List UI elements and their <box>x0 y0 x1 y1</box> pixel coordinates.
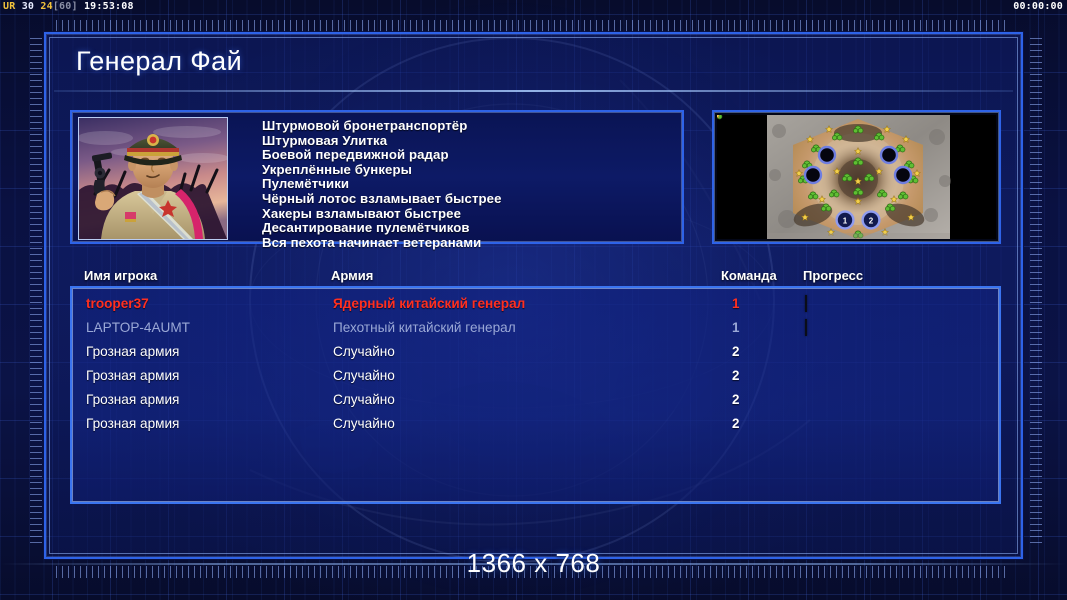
ability-item: Хакеры взламывают быстрее <box>262 207 502 222</box>
ability-item: Боевой передвижной радар <box>262 148 502 163</box>
table-row[interactable]: Грозная армия Случайно 2 <box>72 340 999 364</box>
current-value: 24 <box>40 1 52 12</box>
table-row[interactable]: Грозная армия Случайно 2 <box>72 412 999 436</box>
ability-item: Десантирование пулемётчиков <box>262 221 502 236</box>
player-table: trooper37 Ядерный китайский генерал 1 LA… <box>70 286 1001 504</box>
general-description-box: Штурмовой бронетранспортёр Штурмовая Ули… <box>70 110 684 244</box>
title-divider <box>54 90 1013 92</box>
ability-item: Укреплённые бункеры <box>262 163 502 178</box>
player-team: 1 <box>732 316 739 340</box>
player-progress <box>805 316 991 328</box>
player-army: Ядерный китайский генерал <box>333 292 525 316</box>
player-team: 1 <box>732 292 739 316</box>
player-name: Грозная армия <box>86 412 179 436</box>
player-army: Случайно <box>333 340 395 364</box>
general-panel: Генерал Фай <box>44 32 1023 559</box>
ruler-ticks-left <box>30 38 42 548</box>
table-row[interactable]: trooper37 Ядерный китайский генерал 1 <box>72 292 999 316</box>
map-preview-box: 1 2 <box>712 110 1001 244</box>
player-name: Грозная армия <box>86 388 179 412</box>
performance-readout: UR 30 24[60] 19:53:08 <box>3 0 134 14</box>
start-pos-label-2: 2 <box>869 217 874 226</box>
general-fai-portrait <box>78 117 228 240</box>
player-table-header: Имя игрока Армия Команда Прогресс <box>70 268 1001 286</box>
ability-item: Штурмовая Улитка <box>262 134 502 149</box>
player-army: Случайно <box>333 412 395 436</box>
map-preview: 1 2 <box>717 115 996 239</box>
ability-list: Штурмовой бронетранспортёр Штурмовая Ули… <box>262 119 502 250</box>
player-team: 2 <box>732 412 739 436</box>
player-name: Грозная армия <box>86 364 179 388</box>
player-progress <box>805 292 991 304</box>
column-header-name: Имя игрока <box>84 268 157 283</box>
progress-bar <box>805 295 807 312</box>
player-name: LAPTOP-4AUMT <box>86 316 190 340</box>
player-name: trooper37 <box>86 292 149 316</box>
ur-label: UR <box>3 1 15 12</box>
ability-item: Вся пехота начинает ветеранами <box>262 236 502 251</box>
column-header-progress: Прогресс <box>803 268 863 283</box>
column-header-team: Команда <box>721 268 777 283</box>
general-info-panel: Штурмовой бронетранспортёр Штурмовая Ули… <box>70 110 1001 244</box>
column-header-army: Армия <box>331 268 373 283</box>
table-row[interactable]: Грозная армия Случайно 2 <box>72 388 999 412</box>
loading-screen: UR 30 24[60] 19:53:08 00:00:00 Генерал Ф… <box>0 0 1067 600</box>
page-title: Генерал Фай <box>76 46 242 77</box>
session-time: 19:53:08 <box>84 1 134 12</box>
table-row[interactable]: LAPTOP-4AUMT Пехотный китайский генерал … <box>72 316 999 340</box>
progress-bar <box>805 319 807 336</box>
player-team: 2 <box>732 388 739 412</box>
resolution-label: 1366 x 768 <box>0 548 1067 579</box>
player-army: Случайно <box>333 388 395 412</box>
max-value: [60] <box>53 1 78 12</box>
ability-item: Штурмовой бронетранспортёр <box>262 119 502 134</box>
fps-value: 30 <box>22 1 34 12</box>
start-pos-label-1: 1 <box>843 217 848 226</box>
player-team: 2 <box>732 364 739 388</box>
clock-readout: 00:00:00 <box>1013 0 1063 14</box>
player-army: Случайно <box>333 364 395 388</box>
ruler-ticks-right <box>1030 38 1042 548</box>
table-row[interactable]: Грозная армия Случайно 2 <box>72 364 999 388</box>
ability-item: Чёрный лотос взламывает быстрее <box>262 192 502 207</box>
player-name: Грозная армия <box>86 340 179 364</box>
status-bar: UR 30 24[60] 19:53:08 00:00:00 <box>0 0 1067 14</box>
player-army: Пехотный китайский генерал <box>333 316 516 340</box>
player-team: 2 <box>732 340 739 364</box>
ruler-ticks-top <box>56 20 1006 32</box>
ability-item: Пулемётчики <box>262 177 502 192</box>
